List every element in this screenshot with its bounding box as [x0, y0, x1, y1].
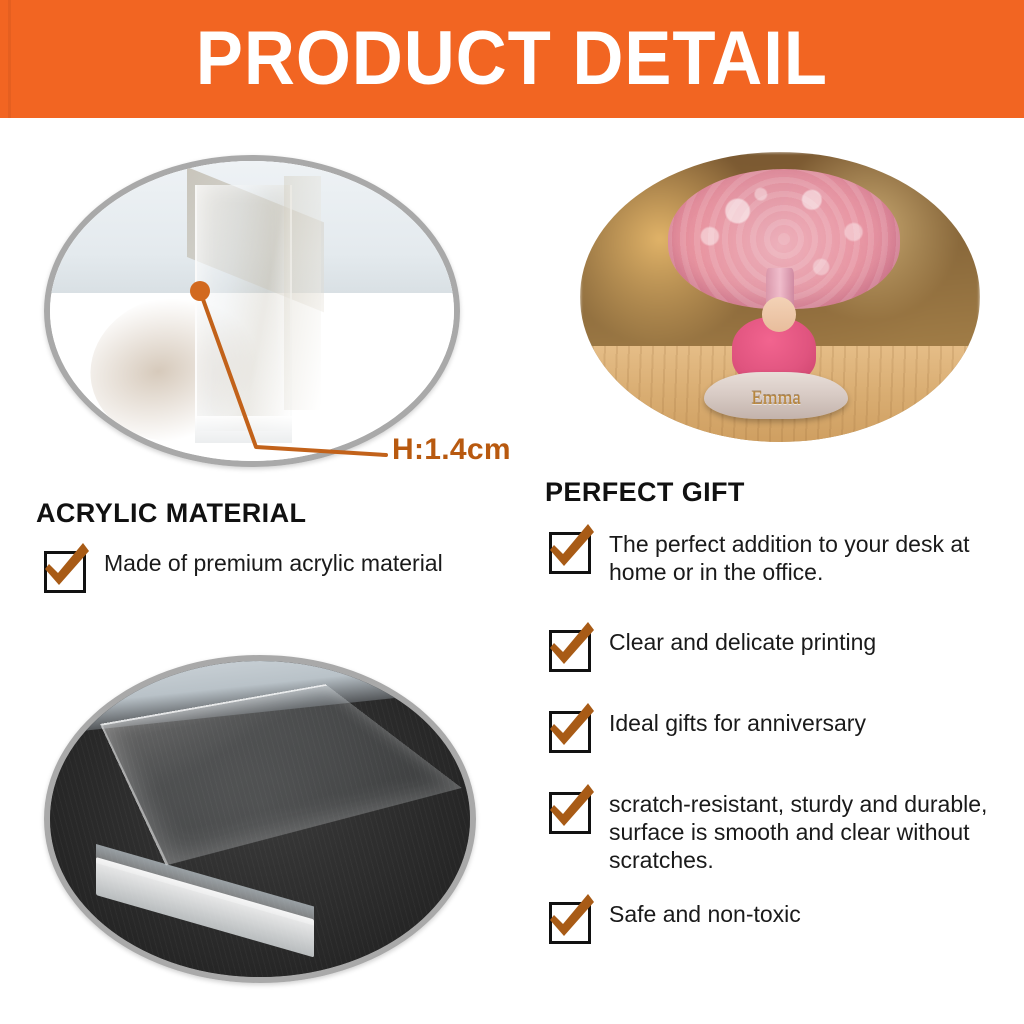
tree-figurine-photo: Emma [580, 152, 980, 442]
feature-text: Clear and delicate printing [609, 628, 876, 656]
acrylic-block-base [195, 416, 292, 443]
figurine-head [762, 297, 796, 332]
feature-item: scratch-resistant, sturdy and durable, s… [549, 790, 1009, 874]
acrylic-block-right-face [284, 176, 320, 410]
check-icon [549, 532, 591, 574]
tree-scene: Emma [580, 152, 980, 442]
feature-text: scratch-resistant, sturdy and durable, s… [609, 790, 1009, 874]
check-icon [549, 711, 591, 753]
acrylic-edge-photo [44, 155, 460, 467]
feature-item: Safe and non-toxic [549, 900, 801, 944]
acrylic-block-photo [44, 655, 476, 983]
acrylic-section-heading: ACRYLIC MATERIAL [36, 498, 306, 529]
check-icon [549, 792, 591, 834]
wood-scene [50, 161, 454, 461]
engraved-name: Emma [751, 388, 801, 410]
page-title: PRODUCT DETAIL [196, 21, 828, 97]
callout-dot-icon [190, 281, 210, 301]
slate-scene [50, 661, 470, 977]
check-icon [44, 551, 86, 593]
feature-item: Made of premium acrylic material [44, 549, 443, 593]
feature-text: Ideal gifts for anniversary [609, 709, 866, 737]
feature-item: Clear and delicate printing [549, 628, 876, 672]
feature-item: The perfect addition to your desk at hom… [549, 530, 1009, 586]
stone-base: Emma [704, 372, 848, 418]
feature-text: Made of premium acrylic material [104, 549, 443, 577]
header-banner: PRODUCT DETAIL [0, 0, 1024, 118]
feature-text: The perfect addition to your desk at hom… [609, 530, 1009, 586]
feature-text: Safe and non-toxic [609, 900, 801, 928]
feature-item: Ideal gifts for anniversary [549, 709, 866, 753]
check-icon [549, 630, 591, 672]
check-icon [549, 902, 591, 944]
dimension-label: H:1.4cm [392, 433, 511, 467]
gift-section-heading: PERFECT GIFT [545, 477, 745, 508]
acrylic-block-front [195, 185, 292, 431]
